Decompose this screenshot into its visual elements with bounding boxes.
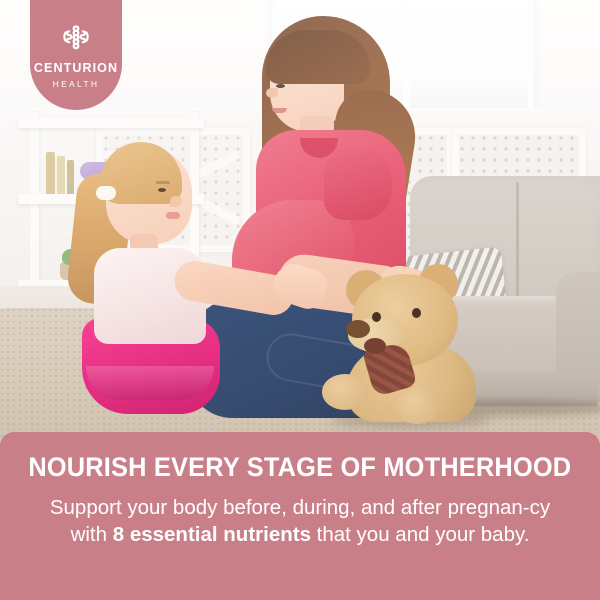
book <box>46 152 55 194</box>
body-copy-part2: that you and your baby. <box>311 523 529 546</box>
advertisement-creative: CENTURION HEALTH NOURISH EVERY STAGE OF … <box>0 0 600 600</box>
bear-eye <box>412 308 421 318</box>
girl-hair-tie <box>96 186 116 200</box>
bear-paw <box>394 388 440 424</box>
mother-nose <box>266 88 278 98</box>
bear-eye <box>372 312 381 322</box>
message-banner: NOURISH EVERY STAGE OF MOTHERHOOD Suppor… <box>0 432 600 600</box>
headline: NOURISH EVERY STAGE OF MOTHERHOOD <box>29 454 572 481</box>
teddy-bear <box>338 262 498 422</box>
book <box>57 156 65 194</box>
mother-sleeve <box>324 150 392 220</box>
girl-nose <box>170 196 182 207</box>
girl-eyebrow <box>156 181 170 184</box>
brand-name: CENTURION <box>34 62 118 75</box>
body-copy-emphasis: 8 essential nutrients <box>113 523 311 546</box>
girl-skirt-ruffle <box>86 366 214 400</box>
sofa-seam <box>516 182 519 302</box>
girl-figure <box>78 148 288 408</box>
mother-hair-front <box>266 30 370 84</box>
centurion-medical-emblem-icon <box>59 22 93 56</box>
girl-lips <box>166 212 180 219</box>
body-copy: Support your body before, during, and af… <box>36 494 564 549</box>
brand-badge[interactable]: CENTURION HEALTH <box>30 0 122 110</box>
bear-nose <box>346 320 370 338</box>
book <box>67 160 74 194</box>
bear-bow-knot <box>364 338 386 354</box>
shelf-board <box>18 118 204 128</box>
bear-paw <box>322 374 368 410</box>
girl-eye <box>158 188 166 192</box>
brand-subtitle: HEALTH <box>53 80 100 89</box>
